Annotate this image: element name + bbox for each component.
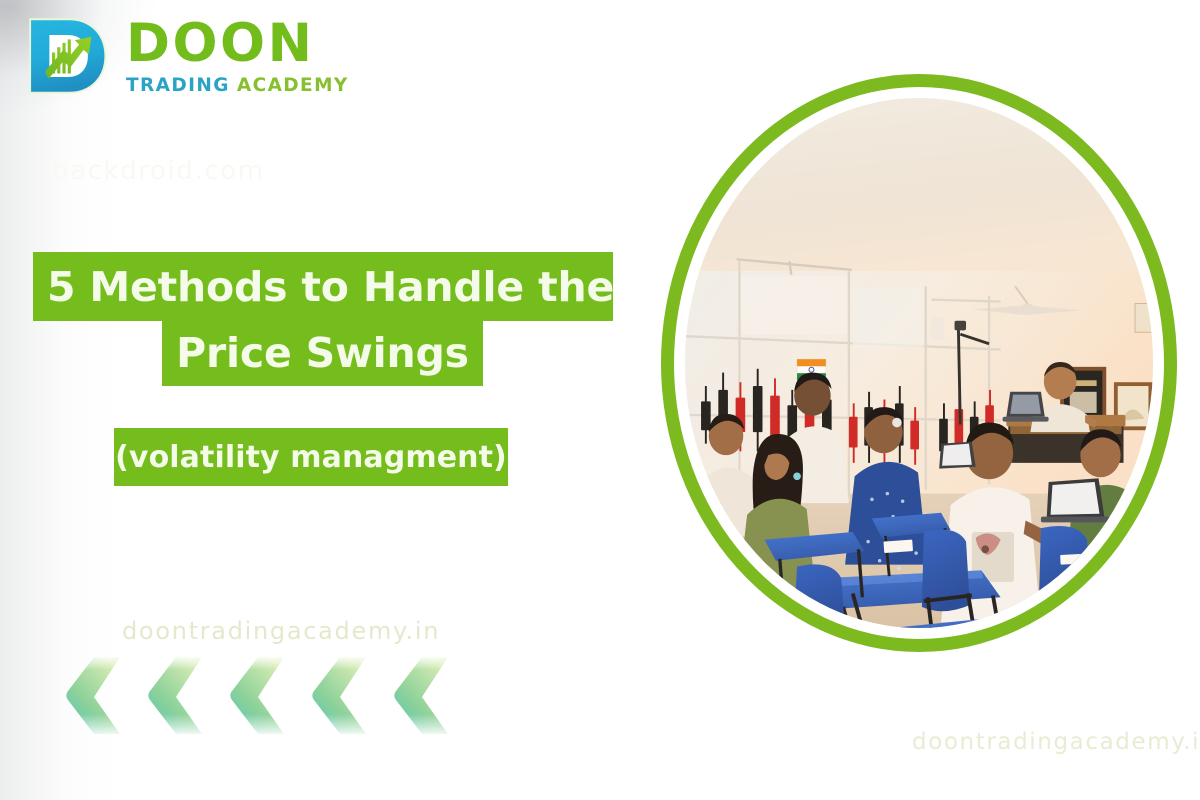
brand-logo[interactable]: DOON TRADING ACADEMY	[22, 14, 349, 98]
headline-subtitle: (volatility managment)	[114, 428, 508, 486]
hero-photo-frame	[661, 74, 1177, 652]
website-url-bottom-right[interactable]: doontradingacademy.in	[912, 729, 1200, 755]
banner-canvas: DOON TRADING ACADEMY backdroid.com 5 Met…	[0, 0, 1200, 800]
watermark-backdroid: backdroid.com	[52, 156, 265, 186]
brand-subtitle: TRADING ACADEMY	[126, 77, 349, 96]
brand-subtitle-trading: TRADING	[126, 77, 230, 96]
chevron-decoration	[60, 655, 530, 737]
headline-line-2: Price Swings	[162, 320, 483, 386]
hero-photo	[685, 98, 1153, 628]
brand-subtitle-academy: ACADEMY	[237, 77, 349, 96]
brand-wordmark: DOON TRADING ACADEMY	[126, 17, 349, 96]
headline-line-1: 5 Methods to Handle the	[33, 252, 613, 321]
website-url-left[interactable]: doontradingacademy.in	[122, 617, 440, 645]
brand-name: DOON	[126, 17, 349, 70]
doon-d-chart-logo-icon	[22, 14, 110, 98]
